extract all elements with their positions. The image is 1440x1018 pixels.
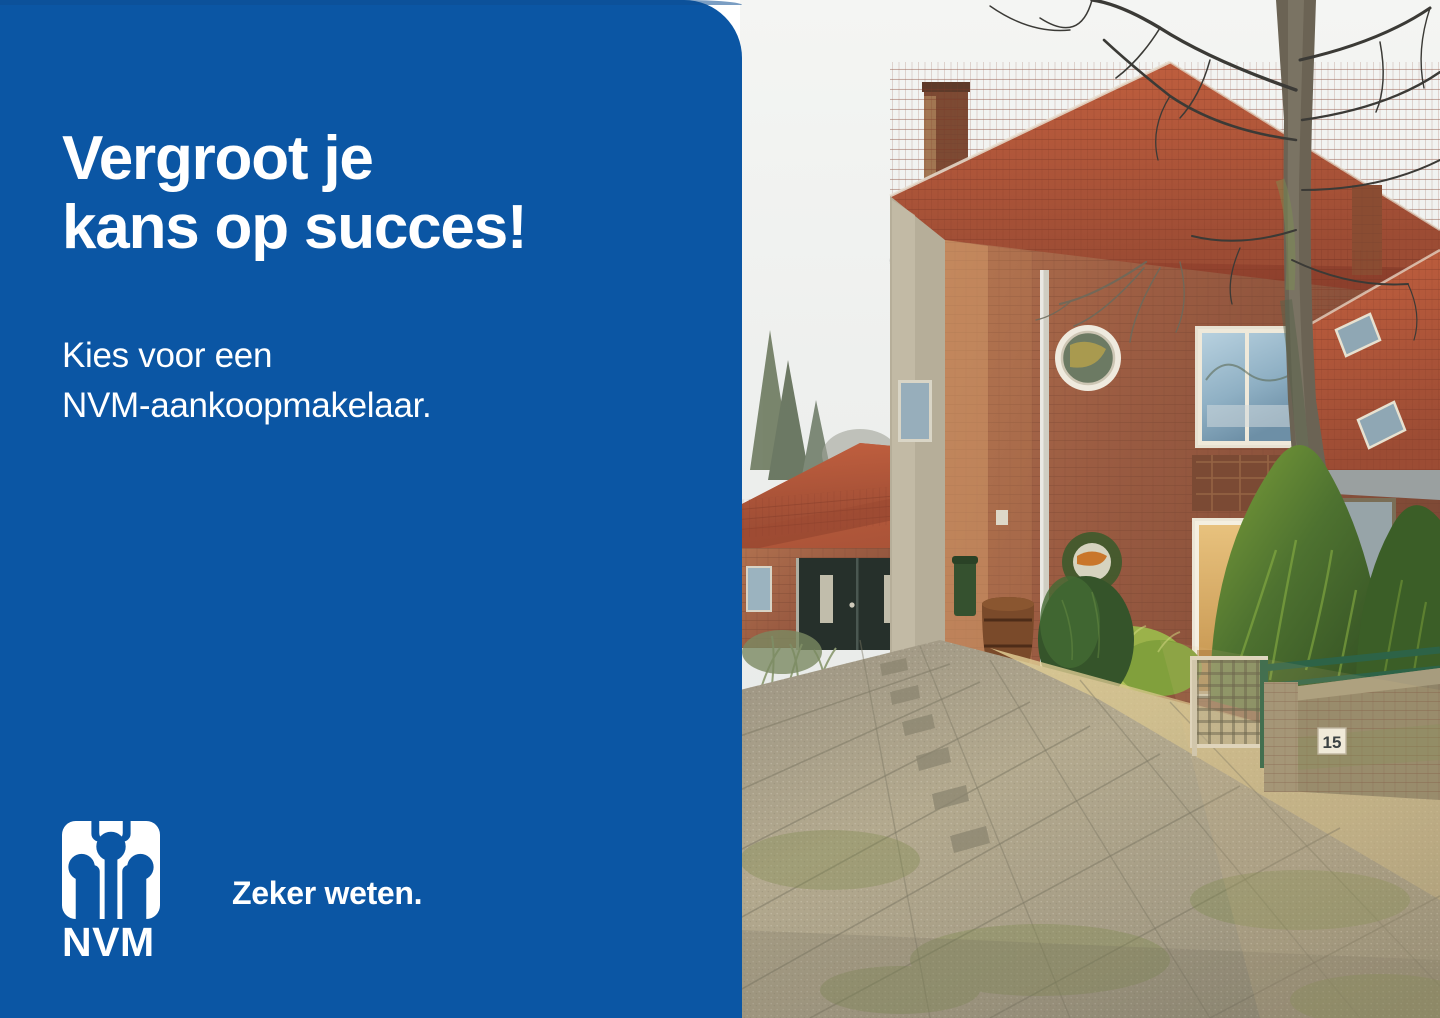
headline-line-2: kans op succes! — [62, 193, 702, 262]
headline-line-1: Vergroot je — [62, 124, 373, 193]
subheadline: Kies voor een NVM-aankoopmakelaar. — [62, 331, 682, 430]
brand-lockup: NVM Zeker weten. — [62, 820, 422, 963]
nvm-advertisement-banner: 15 Vergroot je kans op succes! — [0, 0, 1440, 1018]
panel-top-edge — [0, 0, 742, 5]
round-window — [1055, 325, 1121, 391]
nvm-three-figures-logo-icon — [62, 820, 160, 920]
headline: Vergroot je kans op succes! — [62, 124, 702, 263]
waste-bin — [952, 556, 978, 616]
property-photo-illustration: 15 — [740, 0, 1440, 1018]
subheadline-line-2: NVM-aankoopmakelaar. — [62, 381, 682, 431]
subheadline-line-1: Kies voor een — [62, 336, 272, 375]
nvm-wordmark: NVM — [62, 922, 160, 963]
brand-tagline: Zeker weten. — [232, 875, 422, 912]
nvm-logo: NVM — [62, 820, 160, 963]
message-panel: Vergroot je kans op succes! Kies voor ee… — [0, 0, 742, 1018]
facade-number-plate — [996, 510, 1008, 525]
property-photo: 15 — [740, 0, 1440, 1018]
